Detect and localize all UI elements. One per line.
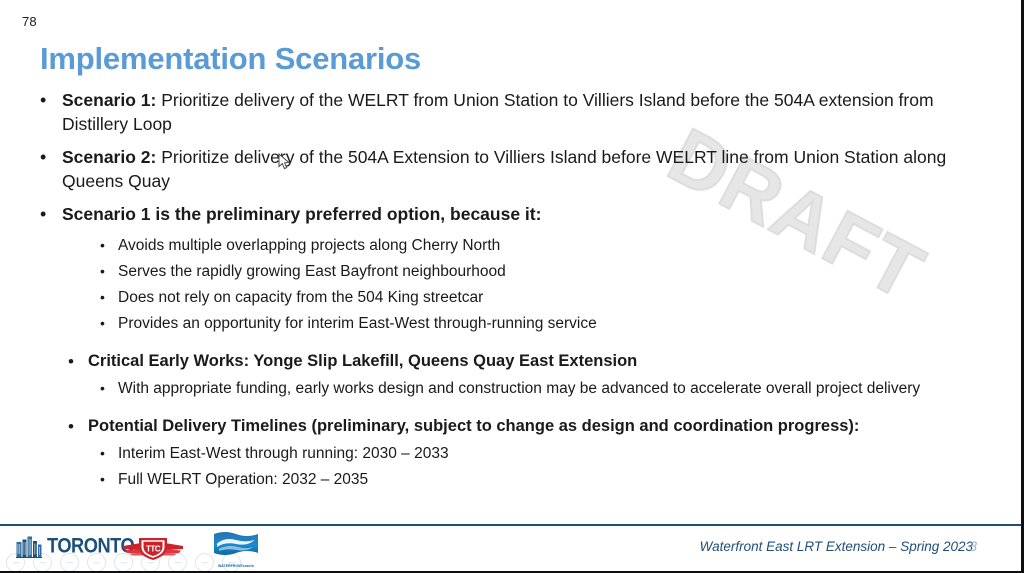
waterfront-toronto-logo: WATERFRONToronto <box>207 529 265 569</box>
bullet-text: Potential Delivery Timelines (preliminar… <box>88 415 980 438</box>
bullet-item-level-3: •Provides an opportunity for interim Eas… <box>100 313 980 335</box>
bullet-text: Avoids multiple overlapping projects alo… <box>118 235 980 257</box>
bullet-item-level-3: •Does not rely on capacity from the 504 … <box>100 287 980 309</box>
bullet-text: Does not rely on capacity from the 504 K… <box>118 287 980 309</box>
city-of-toronto-logo: TORONTO <box>16 534 138 560</box>
bullet-text: Full WELRT Operation: 2032 – 2035 <box>118 469 980 491</box>
bullet-marker-icon: • <box>100 313 118 330</box>
bullet-marker-icon: • <box>100 443 118 460</box>
bullet-item-level-3: •With appropriate funding, early works d… <box>100 378 980 400</box>
bullet-bold-lead: Scenario 1: <box>62 90 156 110</box>
bullet-item-level-2: •Potential Delivery Timelines (prelimina… <box>68 415 980 438</box>
bullet-item-level-3: •Avoids multiple overlapping projects al… <box>100 235 980 257</box>
bullet-item-level-1: •Scenario 2: Prioritize delivery of the … <box>40 145 980 193</box>
bullet-body-text: Provides an opportunity for interim East… <box>118 315 597 332</box>
bullet-marker-icon: • <box>100 287 118 304</box>
bullet-body-text: Interim East-West through running: 2030 … <box>118 445 449 462</box>
bullet-marker-icon: • <box>68 415 88 435</box>
bullet-bold-lead: Scenario 2: <box>62 147 156 167</box>
bullet-marker-icon: • <box>40 88 62 109</box>
bullet-marker-icon: • <box>40 202 62 223</box>
bullet-marker-icon: • <box>100 469 118 486</box>
bullet-text: Interim East-West through running: 2030 … <box>118 443 980 465</box>
bullet-body-text: Prioritize delivery of the 504A Extensio… <box>62 147 946 191</box>
bullet-text: With appropriate funding, early works de… <box>118 378 980 400</box>
page-title: Implementation Scenarios <box>40 41 421 77</box>
bullet-bold-lead: Scenario 1 is the preliminary preferred … <box>62 204 541 224</box>
bullet-body-text: Avoids multiple overlapping projects alo… <box>118 237 500 254</box>
footer-page-number: 3 <box>969 539 977 554</box>
bullet-text: Provides an opportunity for interim East… <box>118 313 980 335</box>
slide-body-content: •Scenario 1: Prioritize delivery of the … <box>40 88 980 495</box>
svg-text:TTC: TTC <box>146 544 161 553</box>
bullet-marker-icon: • <box>100 261 118 278</box>
slide-footer: TORONTO TTC <box>0 526 1021 571</box>
bullet-item-level-1: •Scenario 1 is the preliminary preferred… <box>40 202 980 226</box>
bullet-item-level-3: •Serves the rapidly growing East Bayfron… <box>100 261 980 283</box>
bullet-marker-icon: • <box>100 378 118 395</box>
bullet-text: Scenario 1 is the preliminary preferred … <box>62 202 980 226</box>
bullet-marker-icon: • <box>100 235 118 252</box>
slide-page-number: 78 <box>22 14 37 29</box>
bullet-body-text: Full WELRT Operation: 2032 – 2035 <box>118 471 368 488</box>
ttc-logo: TTC <box>122 534 184 562</box>
bullet-marker-icon: • <box>40 145 62 166</box>
bullet-text: Critical Early Works: Yonge Slip Lakefil… <box>88 350 980 373</box>
bullet-body-text: Does not rely on capacity from the 504 K… <box>118 289 483 306</box>
bullet-bold-lead: Potential Delivery Timelines (preliminar… <box>88 417 859 435</box>
block-spacer <box>40 404 980 415</box>
bullet-bold-lead: Critical Early Works: Yonge Slip Lakefil… <box>88 352 637 370</box>
bullet-text: Scenario 1: Prioritize delivery of the W… <box>62 88 980 136</box>
bullet-item-level-2: •Critical Early Works: Yonge Slip Lakefi… <box>68 350 980 373</box>
toronto-towers-icon <box>16 536 42 558</box>
bullet-body-text: Prioritize delivery of the WELRT from Un… <box>62 90 934 134</box>
bullet-text: Serves the rapidly growing East Bayfront… <box>118 261 980 283</box>
bullet-text: Scenario 2: Prioritize delivery of the 5… <box>62 145 980 193</box>
bullet-item-level-3: •Interim East-West through running: 2030… <box>100 443 980 465</box>
footer-caption: Waterfront East LRT Extension – Spring 2… <box>700 539 973 554</box>
bullet-item-level-1: •Scenario 1: Prioritize delivery of the … <box>40 88 980 136</box>
presentation-slide: 78 Implementation Scenarios DRAFT •Scena… <box>0 0 1024 573</box>
bullet-body-text: Serves the rapidly growing East Bayfront… <box>118 263 506 280</box>
block-spacer <box>40 339 980 350</box>
bullet-item-level-3: •Full WELRT Operation: 2032 – 2035 <box>100 469 980 491</box>
waterfront-wordmark: WATERFRONToronto <box>207 564 265 568</box>
bullet-body-text: With appropriate funding, early works de… <box>118 380 920 397</box>
bullet-marker-icon: • <box>68 350 88 370</box>
